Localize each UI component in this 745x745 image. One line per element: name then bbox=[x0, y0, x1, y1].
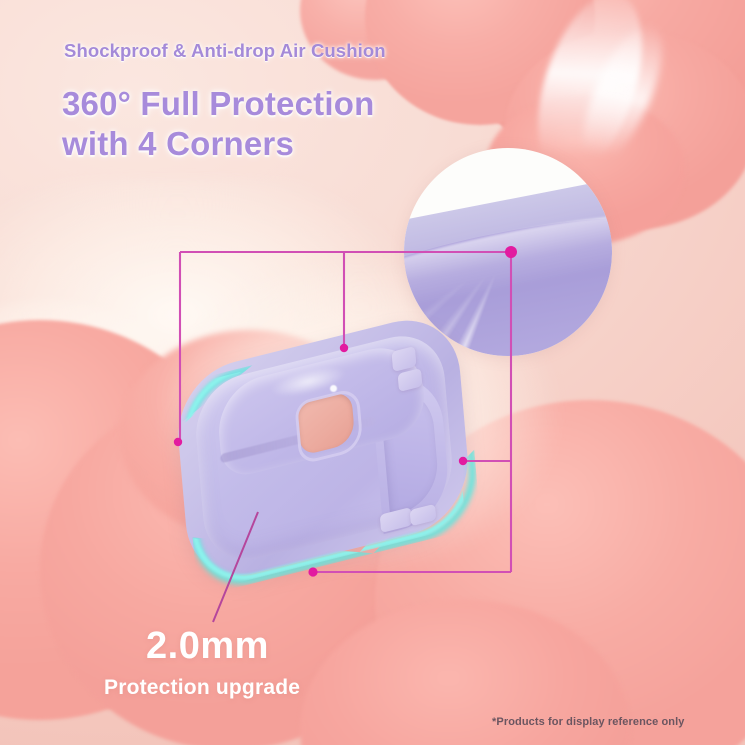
product-poster: Shockproof & Anti-drop Air Cushion 360° … bbox=[0, 0, 745, 745]
poster-subtitle: Shockproof & Anti-drop Air Cushion bbox=[64, 40, 386, 62]
measurement-caption: Protection upgrade bbox=[104, 676, 300, 700]
air-cushion-magnifier bbox=[404, 148, 612, 356]
measurement-value: 2.0mm bbox=[146, 625, 269, 668]
headline-line-1: 360° Full Protection bbox=[62, 84, 482, 124]
disclaimer-text: *Products for display reference only bbox=[492, 716, 685, 728]
poster-headline: 360° Full Protection with 4 Corners bbox=[62, 84, 482, 165]
airpods-case-product bbox=[170, 335, 500, 585]
headline-line-2: with 4 Corners bbox=[62, 124, 482, 164]
case-led-dot bbox=[330, 385, 337, 392]
